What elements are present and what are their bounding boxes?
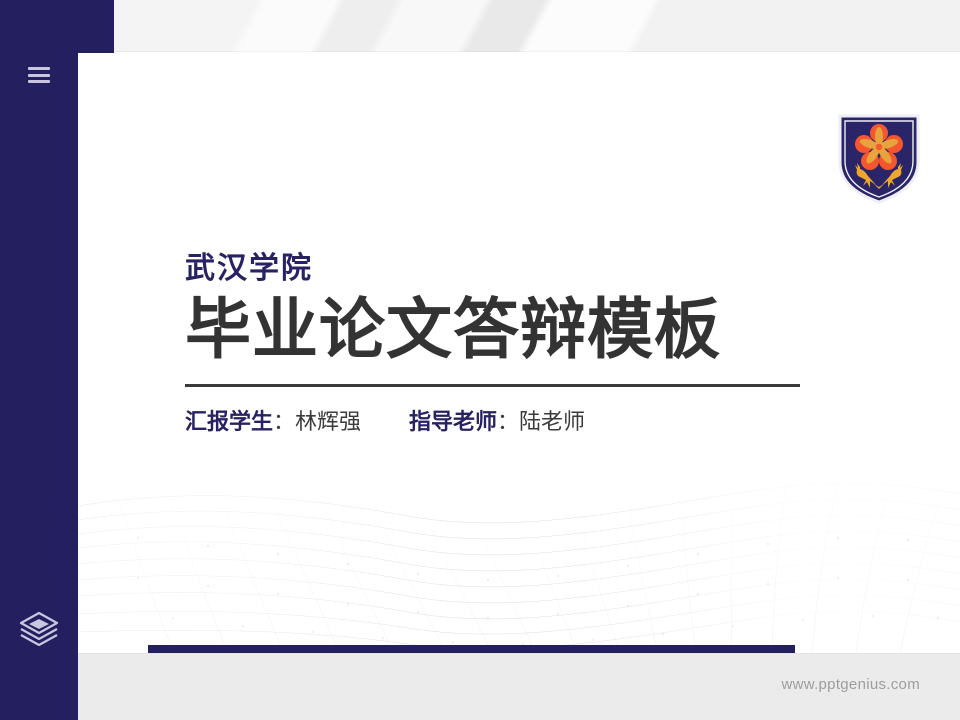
slide-canvas: 武汉学院 毕业论文答辩模板 汇报学生：林辉强指导老师：陆老师 — [78, 52, 960, 653]
advisor-value: ：陆老师 — [497, 409, 585, 434]
presenter-value: ：林辉强 — [273, 409, 361, 434]
university-crest-icon — [836, 110, 922, 204]
school-name: 武汉学院 — [185, 252, 825, 287]
hamburger-menu-icon — [28, 67, 50, 83]
slide-bottom-accent-bar — [148, 645, 795, 653]
menu-button[interactable] — [0, 60, 78, 90]
advisor-label: 指导老师 — [409, 409, 497, 434]
presenter-meta-row: 汇报学生：林辉强指导老师：陆老师 — [185, 409, 825, 435]
advisor-field: 指导老师：陆老师 — [409, 409, 585, 435]
layers-button[interactable] — [0, 602, 78, 654]
layers-stack-icon — [18, 610, 60, 646]
top-decoration-band — [0, 0, 960, 55]
presenter-field: 汇报学生：林辉强 — [185, 409, 361, 435]
page-title: 毕业论文答辩模板 — [185, 295, 825, 364]
mesh-wave-graphic — [78, 468, 960, 653]
title-text-block: 武汉学院 毕业论文答辩模板 汇报学生：林辉强指导老师：陆老师 — [185, 252, 825, 435]
footer-url: www.pptgenius.com — [782, 676, 921, 693]
title-divider — [185, 384, 800, 387]
slide-viewer: 武汉学院 毕业论文答辩模板 汇报学生：林辉强指导老师：陆老师 www.pptge… — [0, 0, 960, 720]
sidebar-top-extension — [0, 0, 114, 53]
presenter-label: 汇报学生 — [185, 409, 273, 434]
